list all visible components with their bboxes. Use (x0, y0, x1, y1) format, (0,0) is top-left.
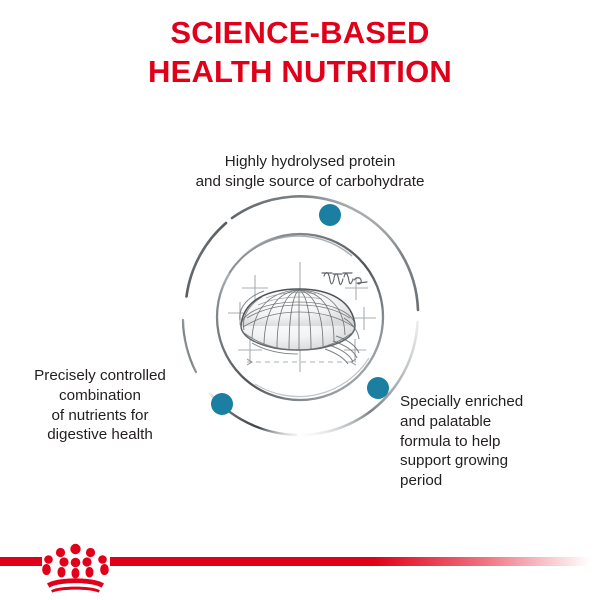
callout-right-line-4: support growing (400, 451, 596, 471)
footer-rule-right (110, 557, 590, 566)
footer-rule-left (0, 557, 42, 566)
node-top[interactable] (319, 204, 341, 226)
callout-right: Specially enriched and palatable formula… (400, 392, 596, 491)
science-diagram (0, 0, 600, 600)
callout-left-line-3: of nutrients for (4, 406, 196, 426)
callout-top-line-1: Highly hydrolysed protein (150, 152, 470, 172)
callout-right-line-5: period (400, 471, 596, 491)
callout-top: Highly hydrolysed protein and single sou… (150, 152, 470, 192)
callout-right-line-2: and palatable (400, 412, 596, 432)
callout-right-line-1: Specially enriched (400, 392, 596, 412)
node-left[interactable] (211, 393, 233, 415)
callout-top-line-2: and single source of carbohydrate (150, 172, 470, 192)
footer-brand-bar (0, 528, 600, 600)
callout-left-line-4: digestive health (4, 425, 196, 445)
kibble-technical-sketch (228, 262, 376, 372)
royal-canin-crown-logo (42, 544, 109, 593)
callout-left: Precisely controlled combination of nutr… (4, 366, 196, 445)
promotional-panel: SCIENCE-BASED HEALTH NUTRITION (0, 0, 600, 600)
callout-left-line-1: Precisely controlled (4, 366, 196, 386)
callout-right-line-3: formula to help (400, 432, 596, 452)
node-right[interactable] (367, 377, 389, 399)
callout-left-line-2: combination (4, 386, 196, 406)
